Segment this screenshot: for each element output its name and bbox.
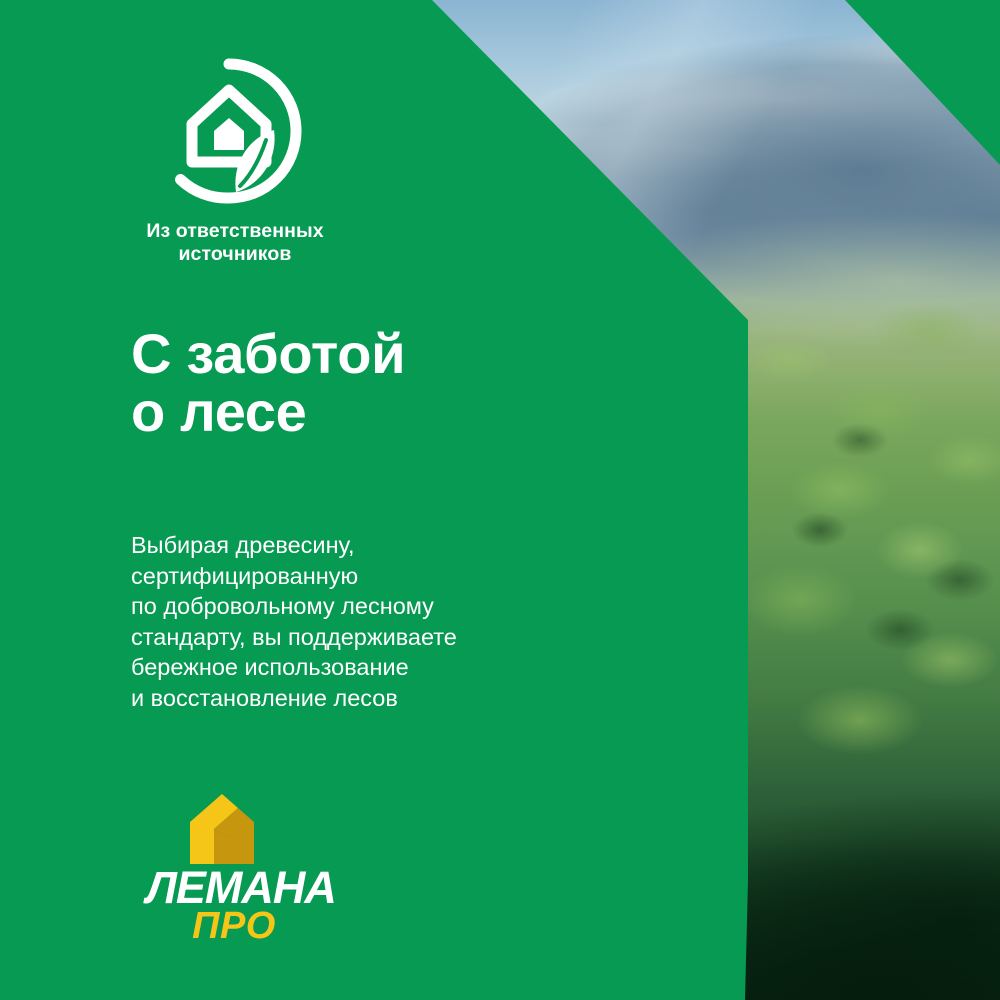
body-line3: по добровольному лесному [131,591,457,622]
poster-canvas: Из ответственных источников С заботой о … [0,0,1000,1000]
lemana-house-icon [138,792,368,864]
brand-wordmark: ЛЕМАНА ПРО [146,866,322,945]
headline: С заботой о лесе [131,325,405,441]
certification-logo: Из ответственных источников [128,58,468,266]
headline-line2: о лесе [131,383,405,441]
body-line1: Выбирая древесину, [131,530,457,561]
headline-line1: С заботой [131,325,405,383]
body-line2: сертифицированную [131,561,457,592]
body-line4: стандарту, вы поддерживаете [131,622,457,653]
body-line6: и восстановление лесов [131,683,457,714]
body-line5: бережное использование [131,652,457,683]
brand-logo: ЛЕМАНА ПРО [138,792,368,945]
brand-name: ЛЕМАНА [146,866,322,909]
body-copy: Выбирая древесину, сертифицированную по … [131,530,457,713]
certification-caption: Из ответственных источников [130,220,340,266]
certification-caption-line1: Из ответственных [130,220,340,243]
certification-mark [156,58,302,204]
certification-caption-line2: источников [130,243,340,266]
house-leaf-circle-icon [156,58,302,204]
